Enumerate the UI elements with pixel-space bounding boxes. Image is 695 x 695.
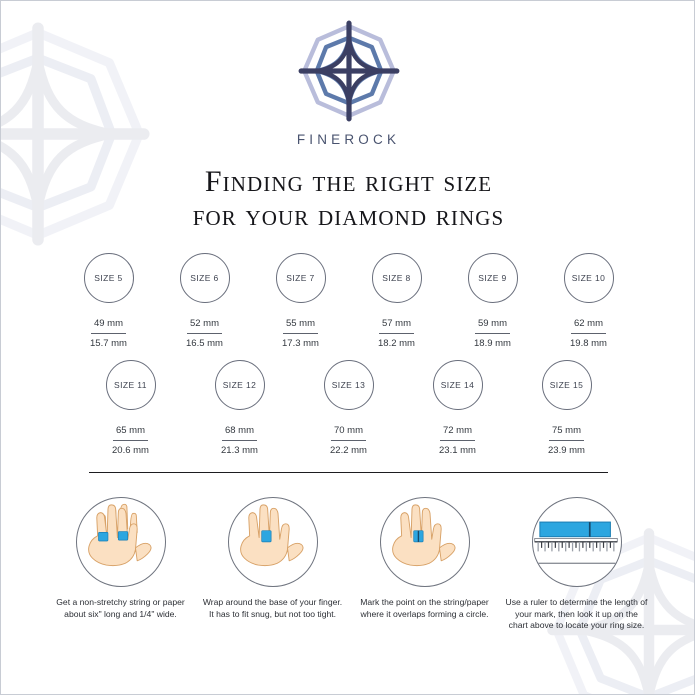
size-measurements: 57 mm 18.2 mm xyxy=(378,316,415,351)
size-diameter: 23.9 mm xyxy=(548,441,585,458)
size-measurements: 62 mm 19.8 mm xyxy=(570,316,607,351)
brand-wordmark: FINEROCK xyxy=(1,132,695,147)
size-circle: SIZE 8 xyxy=(372,253,422,303)
size-row-first: SIZE 5 49 mm 15.7 mm SIZE 6 52 mm 16.5 m… xyxy=(1,253,695,351)
size-diameter: 18.2 mm xyxy=(378,334,415,351)
step-caption: Use a ruler to determine the length of y… xyxy=(501,597,653,632)
instruction-step: Use a ruler to determine the length of y… xyxy=(501,497,653,632)
size-cell: SIZE 10 62 mm 19.8 mm xyxy=(541,253,637,351)
size-circumference: 52 mm xyxy=(187,316,222,334)
size-cell: SIZE 5 49 mm 15.7 mm xyxy=(61,253,157,351)
size-measurements: 52 mm 16.5 mm xyxy=(186,316,223,351)
size-circle: SIZE 10 xyxy=(564,253,614,303)
size-circumference: 70 mm xyxy=(331,423,366,441)
size-circle: SIZE 5 xyxy=(84,253,134,303)
size-circumference: 62 mm xyxy=(571,316,606,334)
size-circle: SIZE 7 xyxy=(276,253,326,303)
instruction-steps: Get a non-stretchy string or paper about… xyxy=(1,497,695,632)
size-circumference: 55 mm xyxy=(283,316,318,334)
page-title: Finding the right size for your diamond … xyxy=(1,165,695,233)
hand-string-wrapped-finger-icon xyxy=(228,497,318,587)
size-cell: SIZE 6 52 mm 16.5 mm xyxy=(157,253,253,351)
hand-marked-string-icon xyxy=(380,497,470,587)
size-cell: SIZE 9 59 mm 18.9 mm xyxy=(445,253,541,351)
size-circle: SIZE 15 xyxy=(542,360,592,410)
step-caption: Mark the point on the string/paper where… xyxy=(349,597,501,620)
size-diameter: 23.1 mm xyxy=(439,441,476,458)
size-measurements: 49 mm 15.7 mm xyxy=(90,316,127,351)
step-caption: Get a non-stretchy string or paper about… xyxy=(45,597,197,620)
size-diameter: 15.7 mm xyxy=(90,334,127,351)
size-circle: SIZE 9 xyxy=(468,253,518,303)
size-cell: SIZE 12 68 mm 21.3 mm xyxy=(185,360,294,458)
section-divider xyxy=(89,472,608,473)
instruction-step: Mark the point on the string/paper where… xyxy=(349,497,501,632)
brand-logo-block: FINEROCK xyxy=(1,19,695,147)
size-circumference: 68 mm xyxy=(222,423,257,441)
size-diameter: 16.5 mm xyxy=(186,334,223,351)
size-cell: SIZE 8 57 mm 18.2 mm xyxy=(349,253,445,351)
size-circumference: 59 mm xyxy=(475,316,510,334)
size-circle: SIZE 13 xyxy=(324,360,374,410)
size-circumference: 75 mm xyxy=(549,423,584,441)
size-cell: SIZE 13 70 mm 22.2 mm xyxy=(294,360,403,458)
size-circle: SIZE 14 xyxy=(433,360,483,410)
size-circumference: 72 mm xyxy=(440,423,475,441)
size-cell: SIZE 11 65 mm 20.6 mm xyxy=(76,360,185,458)
size-diameter: 22.2 mm xyxy=(330,441,367,458)
size-measurements: 70 mm 22.2 mm xyxy=(330,423,367,458)
size-circle: SIZE 6 xyxy=(180,253,230,303)
instruction-step: Get a non-stretchy string or paper about… xyxy=(45,497,197,632)
size-cell: SIZE 7 55 mm 17.3 mm xyxy=(253,253,349,351)
ring-size-chart-page: FINEROCK Finding the right size for your… xyxy=(0,0,695,695)
size-diameter: 21.3 mm xyxy=(221,441,258,458)
size-diameter: 19.8 mm xyxy=(570,334,607,351)
size-measurements: 68 mm 21.3 mm xyxy=(221,423,258,458)
size-circumference: 57 mm xyxy=(379,316,414,334)
page-title-line-2: for your diamond rings xyxy=(1,199,695,233)
size-measurements: 65 mm 20.6 mm xyxy=(112,423,149,458)
size-measurements: 55 mm 17.3 mm xyxy=(282,316,319,351)
compass-rose-gem-logo-icon xyxy=(297,19,401,123)
size-diameter: 18.9 mm xyxy=(474,334,511,351)
size-cell: SIZE 15 75 mm 23.9 mm xyxy=(512,360,621,458)
size-measurements: 59 mm 18.9 mm xyxy=(474,316,511,351)
size-circle: SIZE 12 xyxy=(215,360,265,410)
size-circumference: 49 mm xyxy=(91,316,126,334)
ruler-measuring-strip-icon xyxy=(532,497,622,587)
size-circle: SIZE 11 xyxy=(106,360,156,410)
size-diameter: 20.6 mm xyxy=(112,441,149,458)
instruction-step: Wrap around the base of your finger. It … xyxy=(197,497,349,632)
size-row-second: SIZE 11 65 mm 20.6 mm SIZE 12 68 mm 21.3… xyxy=(1,360,695,458)
size-measurements: 72 mm 23.1 mm xyxy=(439,423,476,458)
size-cell: SIZE 14 72 mm 23.1 mm xyxy=(403,360,512,458)
size-diameter: 17.3 mm xyxy=(282,334,319,351)
page-title-line-1: Finding the right size xyxy=(1,165,695,199)
size-circumference: 65 mm xyxy=(113,423,148,441)
size-measurements: 75 mm 23.9 mm xyxy=(548,423,585,458)
step-caption: Wrap around the base of your finger. It … xyxy=(197,597,349,620)
hand-with-string-strips-icon xyxy=(76,497,166,587)
